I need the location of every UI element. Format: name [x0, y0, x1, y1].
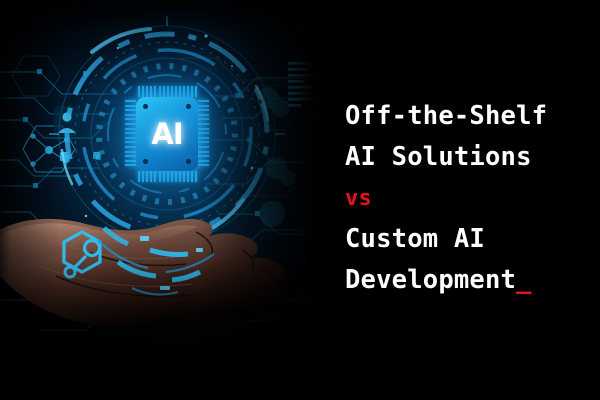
headline-line-1: Off-the-Shelf: [345, 96, 590, 137]
hologram-arcs: [0, 0, 340, 400]
banner-root: AI: [0, 0, 600, 400]
headline-block: Off-the-Shelf AI Solutions vs Custom AI …: [345, 96, 590, 301]
headline-vs: vs: [345, 178, 590, 219]
headline-line-4: Custom AI: [345, 219, 590, 260]
headline-line-5-text: Development: [345, 265, 516, 295]
headline-line-2: AI Solutions: [345, 137, 590, 178]
headline-line-5: Development_: [345, 260, 590, 301]
typing-caret: _: [516, 265, 532, 295]
hero-image: AI: [0, 0, 340, 400]
